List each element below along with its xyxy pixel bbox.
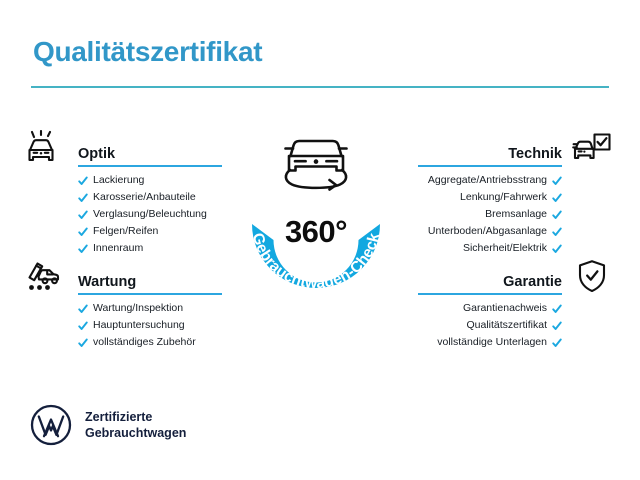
check-icon [78, 193, 88, 203]
volkswagen-logo-icon [30, 404, 72, 446]
section-garantie: Garantie Garantienachweis Qualitätszerti… [418, 258, 618, 351]
list-item: Innenraum [22, 240, 222, 257]
section-technik-list: Aggregate/Antriebsstrang Lenkung/Fahrwer… [418, 172, 618, 257]
section-garantie-header: Garantie [418, 258, 618, 300]
list-item-label: Karosserie/Anbauteile [93, 192, 196, 203]
list-item: Verglasung/Beleuchtung [22, 206, 222, 223]
footer-brand: Zertifizierte Gebrauchtwagen [30, 404, 186, 446]
check-icon [552, 176, 562, 186]
list-item: Garantienachweis [418, 300, 618, 317]
check-icon [78, 244, 88, 254]
badge-360-gebrauchtwagen-check: Gebrauchtwagen-Check 360° [230, 128, 402, 312]
list-item: Sicherheit/Elektrik [418, 240, 618, 257]
list-item: Lackierung [22, 172, 222, 189]
section-wartung-underline [78, 293, 222, 295]
list-item: Karosserie/Anbauteile [22, 189, 222, 206]
check-icon [552, 338, 562, 348]
check-icon [552, 244, 562, 254]
list-item: Felgen/Reifen [22, 223, 222, 240]
section-technik-title: Technik [508, 146, 562, 162]
list-item-label: Innenraum [93, 243, 143, 254]
check-icon [552, 304, 562, 314]
check-icon [552, 227, 562, 237]
check-icon [552, 321, 562, 331]
section-technik: Technik Aggregate/Antriebsstrang Lenkung… [418, 130, 618, 257]
section-garantie-list: Garantienachweis Qualitätszertifikat vol… [418, 300, 618, 351]
list-item-label: Lackierung [93, 175, 144, 186]
section-technik-header: Technik [418, 130, 618, 172]
section-optik-underline [78, 165, 222, 167]
car-checkbox-icon [568, 130, 616, 170]
list-item-label: Verglasung/Beleuchtung [93, 209, 207, 220]
shield-check-icon [568, 258, 616, 298]
section-wartung-list: Wartung/Inspektion Hauptuntersuchung vol… [22, 300, 222, 351]
list-item-label: Qualitätszertifikat [466, 320, 547, 331]
section-optik-list: Lackierung Karosserie/Anbauteile Verglas… [22, 172, 222, 257]
list-item: Unterboden/Abgasanlage [418, 223, 618, 240]
list-item-label: Unterboden/Abgasanlage [428, 226, 547, 237]
list-item: Aggregate/Antriebsstrang [418, 172, 618, 189]
list-item: Hauptuntersuchung [22, 317, 222, 334]
footer-line-2: Gebrauchtwagen [85, 426, 186, 440]
page-title: Qualitätszertifikat [33, 36, 262, 68]
car-shine-icon [24, 130, 72, 170]
section-garantie-underline [418, 293, 562, 295]
check-icon [78, 304, 88, 314]
badge-value: 360° [230, 214, 402, 250]
check-icon [78, 210, 88, 220]
car-rotate-360-icon [286, 141, 347, 190]
list-item-label: vollständiges Zubehör [93, 337, 196, 348]
check-icon [78, 227, 88, 237]
list-item-label: vollständige Unterlagen [437, 337, 547, 348]
list-item: vollständiges Zubehör [22, 334, 222, 351]
list-item-label: Bremsanlage [485, 209, 547, 220]
section-optik: Optik Lackierung Karosserie/Anbauteile V… [22, 130, 222, 257]
section-optik-title: Optik [78, 146, 115, 162]
check-icon [78, 321, 88, 331]
list-item-label: Wartung/Inspektion [93, 303, 183, 314]
check-icon [552, 193, 562, 203]
list-item-label: Lenkung/Fahrwerk [460, 192, 547, 203]
list-item: Lenkung/Fahrwerk [418, 189, 618, 206]
list-item-label: Felgen/Reifen [93, 226, 158, 237]
list-item: vollständige Unterlagen [418, 334, 618, 351]
list-item-label: Garantienachweis [463, 303, 547, 314]
header-divider [31, 86, 609, 88]
check-icon [552, 210, 562, 220]
list-item-label: Sicherheit/Elektrik [463, 243, 547, 254]
section-garantie-title: Garantie [503, 274, 562, 290]
list-item-label: Aggregate/Antriebsstrang [428, 175, 547, 186]
check-icon [78, 338, 88, 348]
quality-certificate-page: Qualitätszertifikat Optik Lackierung [0, 0, 640, 480]
list-item: Bremsanlage [418, 206, 618, 223]
footer-line-1: Zertifizierte [85, 410, 152, 424]
section-optik-header: Optik [22, 130, 222, 172]
section-wartung-title: Wartung [78, 274, 136, 290]
footer-brand-text: Zertifizierte Gebrauchtwagen [85, 409, 186, 442]
list-item: Wartung/Inspektion [22, 300, 222, 317]
section-wartung: Wartung Wartung/Inspektion Hauptuntersuc… [22, 258, 222, 351]
section-wartung-header: Wartung [22, 258, 222, 300]
list-item-label: Hauptuntersuchung [93, 320, 185, 331]
list-item: Qualitätszertifikat [418, 317, 618, 334]
check-icon [78, 176, 88, 186]
service-record-pen-car-icon [24, 258, 72, 298]
section-technik-underline [418, 165, 562, 167]
